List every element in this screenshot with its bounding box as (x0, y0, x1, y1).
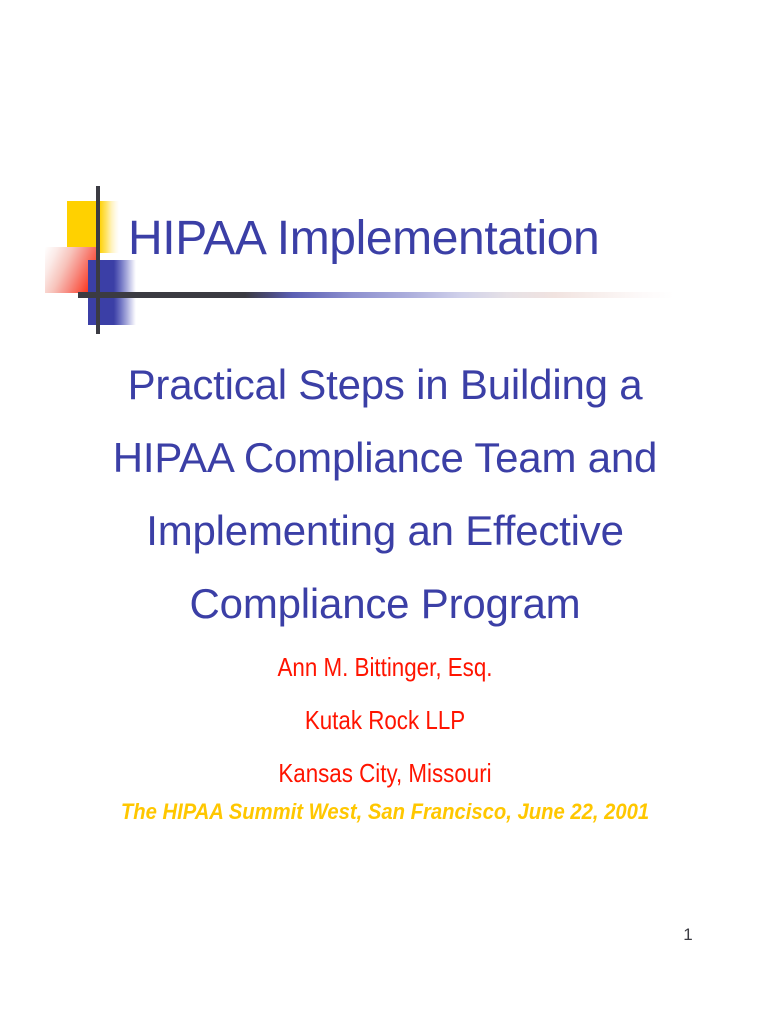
presenter-name: Ann M. Bittinger, Esq. (101, 641, 669, 694)
logo-vertical-rule-icon (96, 186, 100, 334)
presenter-firm: Kutak Rock LLP (101, 694, 669, 747)
slide-title: HIPAA Implementation (128, 210, 599, 268)
page-number: 1 (678, 925, 698, 945)
event-caption: The HIPAA Summit West, San Francisco, Ju… (81, 798, 688, 826)
presenter-location: Kansas City, Missouri (101, 747, 669, 800)
slide-subtitle: Practical Steps in Building a HIPAA Comp… (55, 348, 715, 640)
presentation-slide: HIPAA Implementation Practical Steps in … (0, 0, 770, 1024)
subtitle-line: Implementing an Effective (55, 494, 715, 567)
presenter-block: Ann M. Bittinger, Esq. Kutak Rock LLP Ka… (101, 641, 669, 800)
title-divider-rule (78, 292, 674, 298)
subtitle-line: HIPAA Compliance Team and (55, 421, 715, 494)
logo-yellow-block-icon (67, 201, 119, 253)
subtitle-line: Compliance Program (55, 567, 715, 640)
subtitle-line: Practical Steps in Building a (55, 348, 715, 421)
